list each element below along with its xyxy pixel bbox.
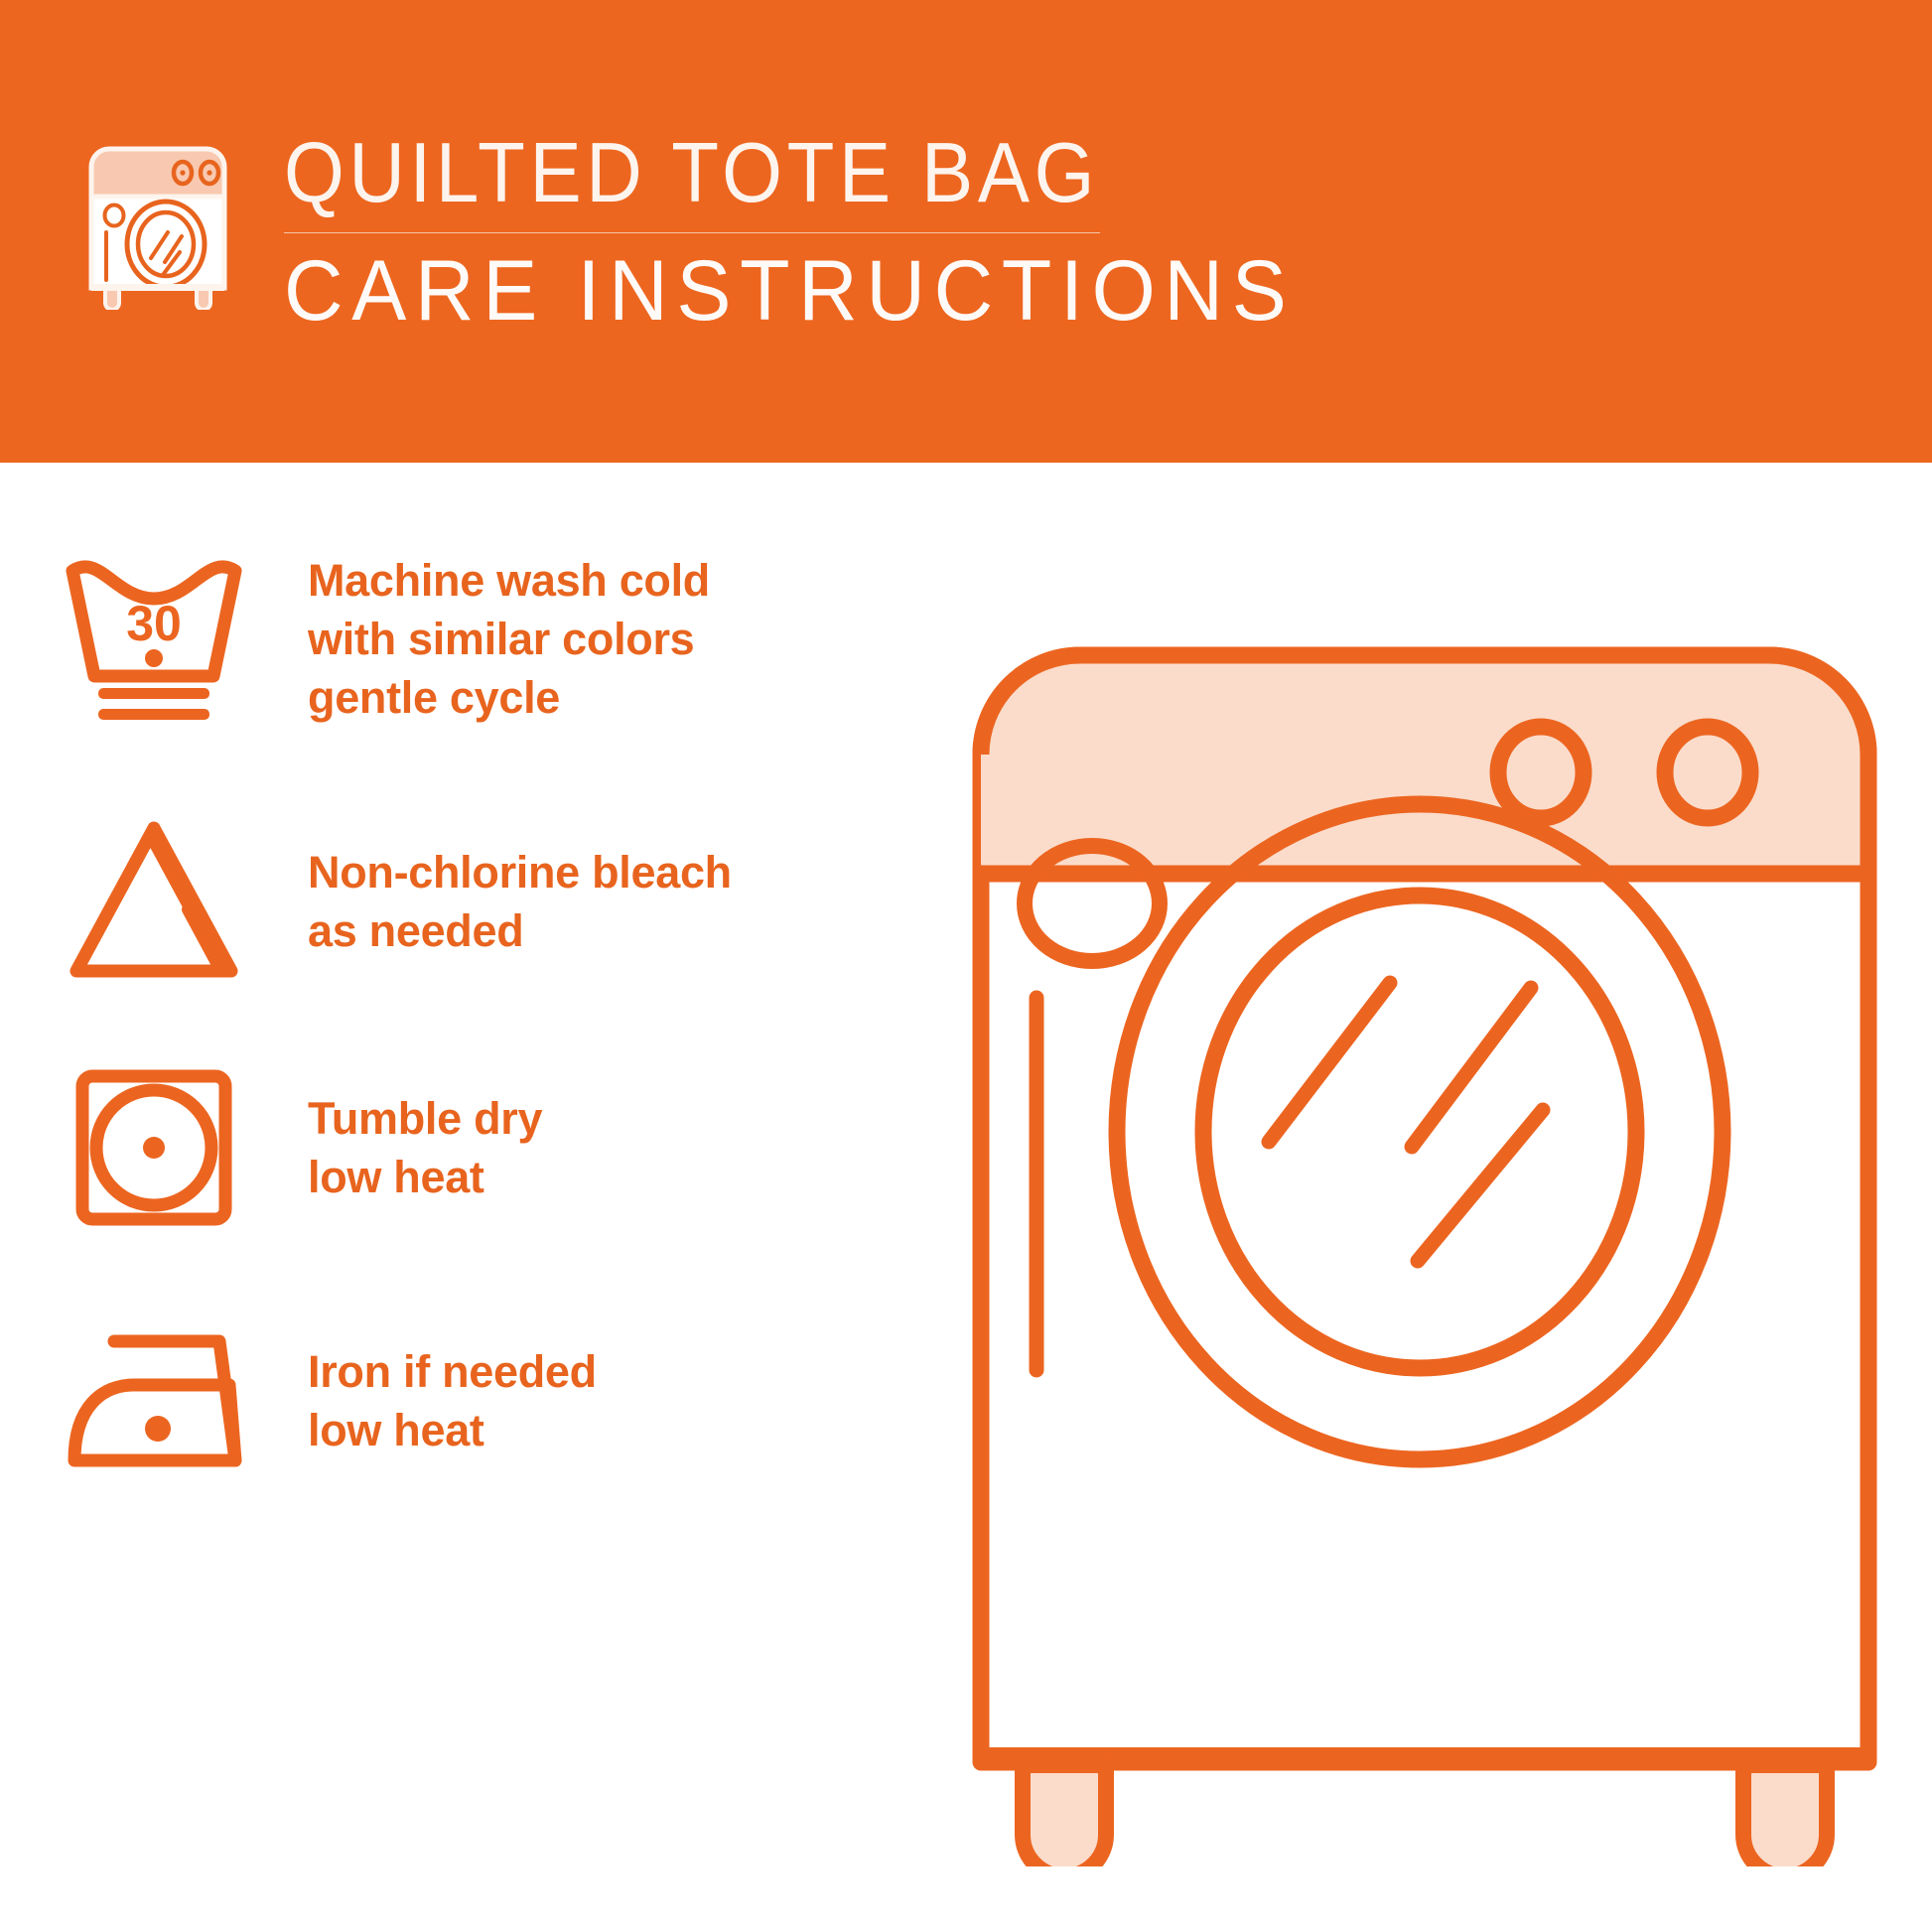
instruction-label: Non-chlorine bleach as needed bbox=[308, 843, 732, 960]
page-subtitle: CARE INSTRUCTIONS bbox=[284, 243, 1237, 339]
instruction-label: Machine wash cold with similar colors ge… bbox=[308, 551, 710, 727]
washing-machine-icon bbox=[83, 141, 232, 310]
tumble-dry-low-heat-icon bbox=[0, 1058, 308, 1237]
leg-right bbox=[1743, 1765, 1827, 1866]
leg-left bbox=[1023, 1765, 1106, 1866]
control-knob-right bbox=[1665, 727, 1750, 818]
non-chlorine-bleach-triangle-icon bbox=[0, 812, 308, 991]
control-knob-left bbox=[1498, 727, 1584, 818]
instruction-row: Tumble dry low heat bbox=[0, 1048, 943, 1247]
wash-temp-label: 30 bbox=[126, 596, 182, 651]
header-divider bbox=[284, 232, 1100, 233]
page-title: QUILTED TOTE BAG bbox=[284, 127, 1197, 220]
instruction-label: Iron if needed low heat bbox=[308, 1342, 597, 1459]
instruction-row: 30 Machine wash cold with similar colors… bbox=[0, 534, 943, 743]
instruction-row: Iron if needed low heat bbox=[0, 1297, 943, 1505]
front-load-washing-machine-illustration bbox=[953, 616, 1896, 1866]
instruction-label: Tumble dry low heat bbox=[308, 1089, 542, 1206]
wash-basin-30-gentle-icon: 30 bbox=[0, 549, 308, 728]
washer-base-bar bbox=[981, 1747, 1868, 1767]
iron-low-heat-icon bbox=[0, 1311, 308, 1490]
care-instructions-list: 30 Machine wash cold with similar colors… bbox=[0, 463, 943, 1932]
header-text-block: QUILTED TOTE BAG CARE INSTRUCTIONS bbox=[284, 127, 1277, 339]
header-banner: QUILTED TOTE BAG CARE INSTRUCTIONS bbox=[0, 0, 1932, 463]
instruction-row: Non-chlorine bleach as needed bbox=[0, 802, 943, 1001]
